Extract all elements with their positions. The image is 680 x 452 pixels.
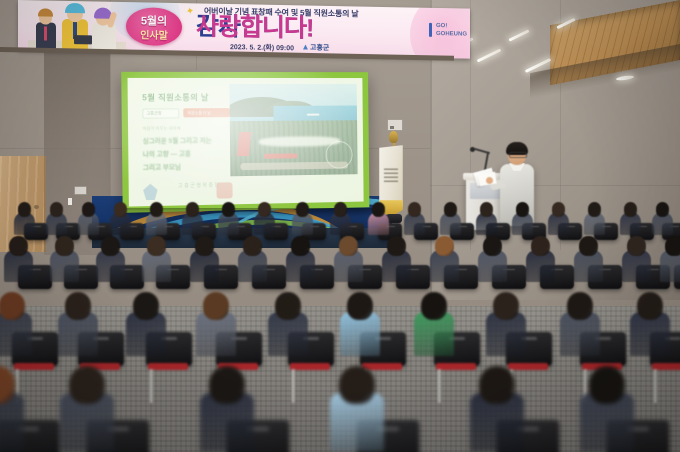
audience-member-head: [147, 236, 166, 256]
audience-member-head: [0, 292, 25, 320]
audience-member-head: [435, 236, 454, 256]
audience-member-head: [665, 236, 680, 256]
audience-member-head: [480, 202, 494, 217]
banner-badge: 5월의 인사말: [126, 7, 182, 46]
audience-member-head: [296, 202, 310, 217]
audience-member-head: [588, 202, 602, 217]
audience-member-head: [339, 366, 374, 404]
audience-member-head: [334, 202, 348, 217]
banner-figure: [90, 7, 118, 50]
audience-member-head: [69, 366, 104, 404]
audience-area: [0, 196, 680, 452]
audience-member-head: [133, 292, 159, 320]
sparkle-icon: ✦: [185, 6, 195, 18]
audience-member-head: [479, 366, 514, 404]
screen-washout: [128, 78, 364, 207]
banner-headline-pink: 사랑합니다!: [196, 14, 313, 41]
audience-member-head: [55, 236, 74, 256]
wall-speaker-unit: [387, 119, 403, 131]
audience-member-head: [531, 236, 550, 256]
audience-member-head: [567, 292, 593, 320]
banner-laptop-icon: [74, 35, 92, 44]
audience-member-head: [579, 236, 598, 256]
speaker-hand: [486, 177, 493, 184]
goheung-logo: GO! GOHEUNG: [436, 23, 467, 39]
glasses-icon: [509, 152, 527, 158]
audience-member-head: [209, 366, 244, 404]
audience-member-head: [101, 236, 120, 256]
audience-member-head: [552, 202, 566, 217]
banner-organizer: 고흥군: [310, 43, 329, 53]
audience-member-head: [387, 236, 406, 256]
audience-member-head: [50, 202, 64, 217]
microphone-icon: [470, 147, 475, 152]
goheung-logo-line1: GO!: [436, 23, 447, 29]
wall-control-panel[interactable]: [74, 186, 87, 195]
flag-finial: [389, 131, 398, 143]
projection-screen: 5월 직원소통의 날 고흥군청 직원소통의 날 마음이 머무는 자리에 싱그러운…: [121, 72, 369, 213]
audience-member-head: [656, 202, 670, 217]
audience-member-head: [291, 236, 310, 256]
audience-member-head: [589, 366, 624, 404]
audience-member-head: [483, 236, 502, 256]
audience-member-head: [222, 202, 236, 217]
audience-member-head: [444, 202, 458, 217]
audience-member-head: [18, 202, 32, 217]
banner-badge-line2: 인사말: [126, 26, 182, 42]
audience-member-head: [65, 292, 91, 320]
audience-member-head: [150, 202, 164, 217]
audience-member-head: [339, 236, 358, 256]
audience-member-head: [516, 202, 530, 217]
audience-member-head: [637, 292, 663, 320]
audience-member-head: [243, 236, 262, 256]
audience-member-head: [408, 202, 422, 217]
banner-headline: 사랑합니다! 감사합니다!: [196, 14, 313, 41]
audience-member-head: [372, 202, 386, 217]
slide-frame: 5월 직원소통의 날 고흥군청 직원소통의 날 마음이 머무는 자리에 싱그러운…: [121, 72, 369, 213]
audience-member-head: [203, 292, 229, 320]
audience-member-head: [82, 202, 96, 217]
audience-member-head: [347, 292, 373, 320]
audience-member-head: [627, 236, 646, 256]
audience-row: [0, 366, 680, 452]
audience-member-head: [421, 292, 447, 320]
flag-emblem: [384, 166, 398, 182]
goheung-logo-line2: GOHEUNG: [436, 31, 467, 38]
audience-member-head: [493, 292, 519, 320]
audience-member-head: [9, 236, 28, 256]
audience-member-head: [624, 202, 638, 217]
audience-member-head: [186, 202, 200, 217]
conference-hall-photo: 5월 직원소통의 날 고흥군청 직원소통의 날 마음이 머무는 자리에 싱그러운…: [0, 0, 680, 452]
banner-figure: [34, 8, 58, 48]
audience-member-head: [258, 202, 272, 217]
audience-member-head: [114, 202, 128, 217]
audience-member-head: [195, 236, 214, 256]
audience-member-head: [275, 292, 301, 320]
